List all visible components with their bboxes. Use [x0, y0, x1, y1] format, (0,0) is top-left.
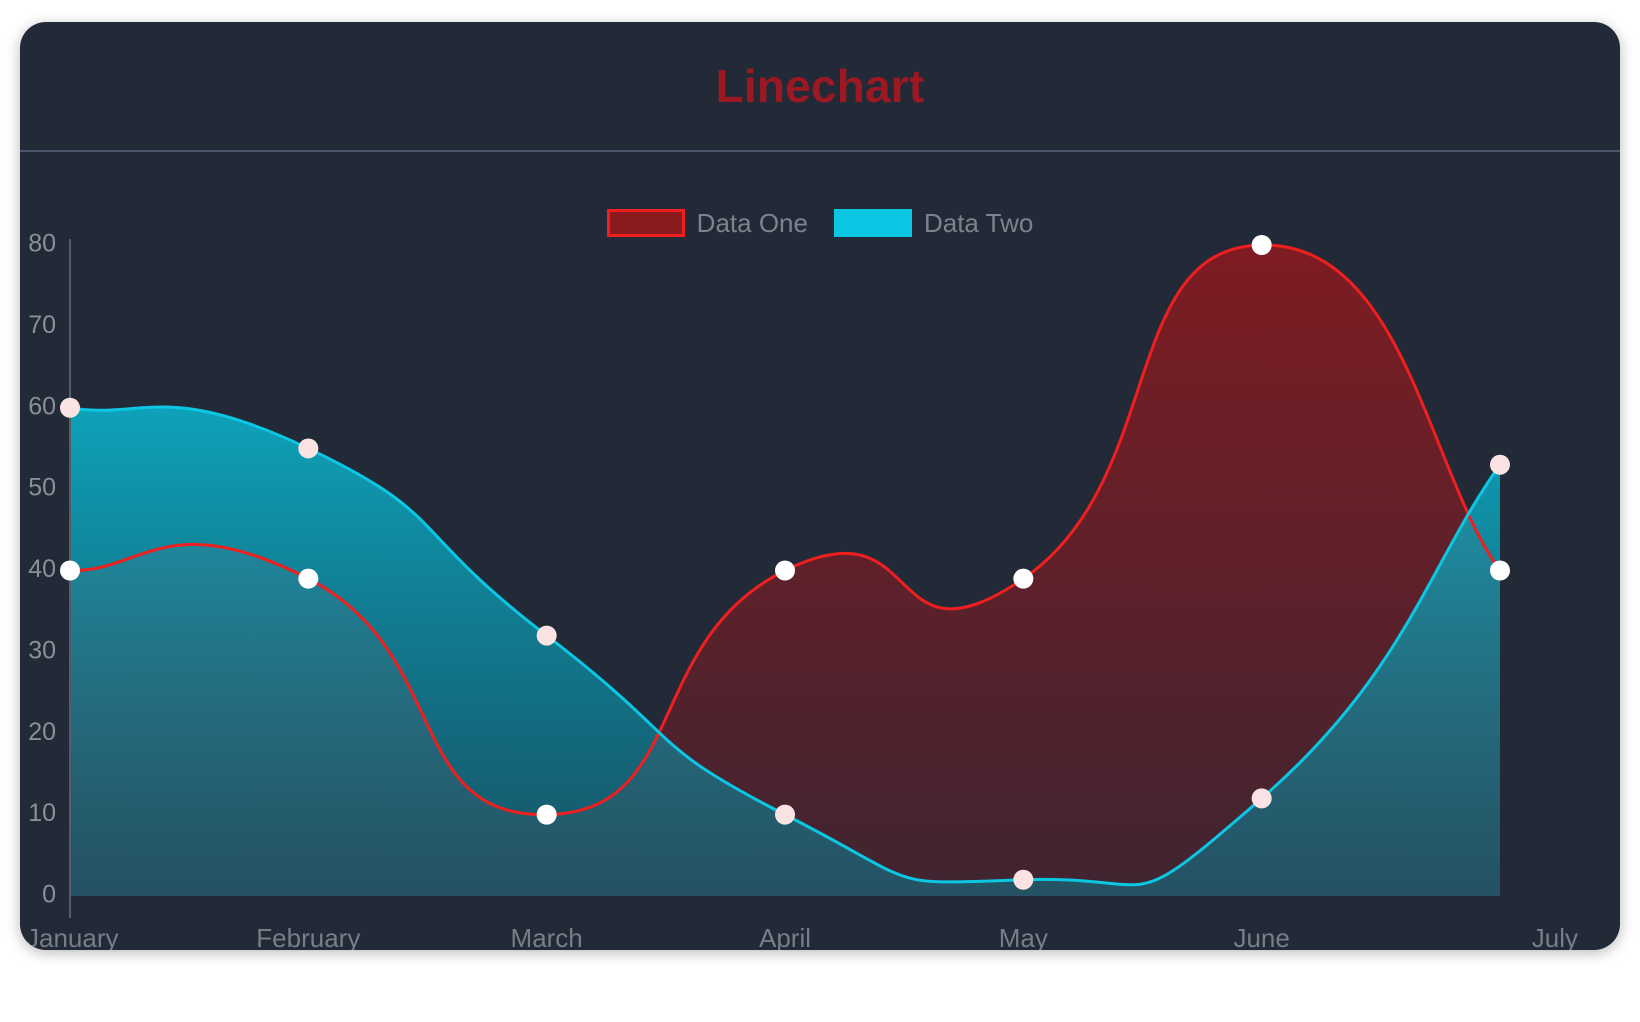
data-point[interactable] — [298, 438, 318, 458]
y-axis-tick-label: 30 — [28, 636, 56, 664]
x-axis-tick-label: March — [511, 923, 583, 950]
plot-area: 01020304050607080 JanuaryFebruaryMarchAp… — [20, 22, 1620, 950]
y-axis-tick-label: 10 — [28, 799, 56, 827]
y-axis-tick-label: 60 — [28, 392, 56, 420]
data-point[interactable] — [60, 398, 80, 418]
data-point[interactable] — [775, 561, 795, 581]
x-axis-tick-label: May — [999, 923, 1048, 950]
data-point[interactable] — [298, 569, 318, 589]
data-point[interactable] — [537, 805, 557, 825]
data-point[interactable] — [1013, 569, 1033, 589]
x-axis-tick-label: April — [759, 923, 811, 950]
y-axis-tick-label: 50 — [28, 474, 56, 502]
linechart-svg: 01020304050607080 JanuaryFebruaryMarchAp… — [20, 22, 1620, 950]
y-axis-tick-label: 70 — [28, 311, 56, 339]
y-axis-tick-label: 20 — [28, 718, 56, 746]
chart-card: Linechart Data OneData Two 0102030405060… — [20, 22, 1620, 950]
data-point[interactable] — [775, 805, 795, 825]
data-point[interactable] — [1490, 455, 1510, 475]
x-axis-tick-label: February — [256, 923, 360, 950]
data-point[interactable] — [60, 561, 80, 581]
x-axis-tick-label: July — [1532, 923, 1578, 950]
data-point[interactable] — [1252, 235, 1272, 255]
data-point[interactable] — [1013, 870, 1033, 890]
data-point[interactable] — [1252, 788, 1272, 808]
y-axis-tick-label: 0 — [42, 881, 56, 909]
y-axis-tick-label: 40 — [28, 555, 56, 583]
data-point[interactable] — [1490, 561, 1510, 581]
y-axis-tick-label: 80 — [28, 230, 56, 258]
x-axis-tick-label: January — [26, 923, 119, 950]
data-point[interactable] — [537, 626, 557, 646]
x-axis-tick-label: June — [1233, 923, 1289, 950]
